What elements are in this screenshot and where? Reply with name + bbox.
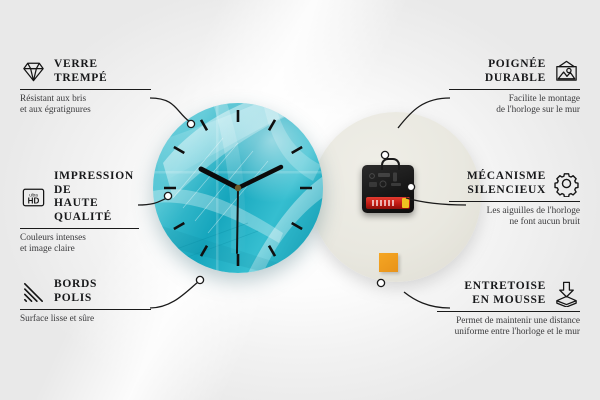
feature-title-line1: POIGNÉE <box>485 58 546 72</box>
feature-desc-line2: de l'horloge sur le mur <box>449 105 580 117</box>
connector-line-bords-polis <box>150 282 198 308</box>
feature-rule <box>20 89 151 90</box>
connector-dot-verre-trempe <box>187 120 194 127</box>
connector-dot-mecanisme <box>407 183 414 190</box>
feature-rule <box>449 201 580 202</box>
feature-desc-line2: ne font aucun bruit <box>449 217 580 229</box>
feature-mecanisme-silencieux: MÉCANISME SILENCIEUX Les aiguilles de l'… <box>449 170 580 229</box>
feature-title-line2: POLIS <box>54 292 97 306</box>
connector-dot-bords-polis <box>196 276 203 283</box>
feature-desc-line2: uniforme entre l'horloge et le mur <box>437 327 580 339</box>
feature-title-line2: SILENCIEUX <box>467 184 546 198</box>
feature-rule <box>20 309 151 310</box>
feature-verre-trempe: VERRE TREMPÉ Résistant aux bris et aux é… <box>20 58 151 117</box>
foam-spacer-icon <box>553 280 580 307</box>
feature-desc-line2: et image claire <box>20 244 139 256</box>
feature-rule <box>437 311 580 312</box>
connector-line-verre-trempe <box>150 98 190 122</box>
picture-frame-icon <box>553 58 580 85</box>
connector-dot-impression <box>164 192 171 199</box>
feature-title-line1: ENTRETOISE <box>464 280 546 294</box>
feature-impression-haute-qualite: ultra HD IMPRESSION DE HAUTE QUALITÉ Cou… <box>20 170 139 256</box>
feature-entretoise-en-mousse: ENTRETOISE EN MOUSSE Permet de maintenir… <box>437 280 580 339</box>
infographic-canvas: VERRE TREMPÉ Résistant aux bris et aux é… <box>0 0 600 400</box>
feature-rule <box>20 228 139 229</box>
feature-desc-line1: Résistant aux bris <box>20 94 151 106</box>
feature-title-line2: TREMPÉ <box>54 72 107 86</box>
feature-title-line2: HAUTE QUALITÉ <box>54 197 139 224</box>
feature-title-line1: VERRE <box>54 58 107 72</box>
ultra-hd-bottom-label: HD <box>28 196 40 205</box>
connector-dot-poignee <box>381 151 388 158</box>
feature-desc-line1: Facilite le montage <box>449 94 580 106</box>
feature-title-line1: IMPRESSION DE <box>54 170 139 197</box>
polished-edge-icon <box>20 278 47 305</box>
feature-title-line1: MÉCANISME <box>467 170 546 184</box>
connector-line-poignee <box>398 98 450 128</box>
feature-rule <box>449 89 580 90</box>
feature-desc-line2: et aux égratignures <box>20 105 151 117</box>
feature-desc-line1: Surface lisse et sûre <box>20 314 151 326</box>
feature-title-line2: DURABLE <box>485 72 546 86</box>
connector-dot-entretoise <box>377 279 384 286</box>
feature-title-line1: BORDS <box>54 278 97 292</box>
ultra-hd-icon: ultra HD <box>20 184 47 211</box>
feature-title-line2: EN MOUSSE <box>464 294 546 308</box>
feature-desc-line1: Permet de maintenir une distance <box>437 316 580 328</box>
diamond-icon <box>20 58 47 85</box>
feature-bords-polis: BORDS POLIS Surface lisse et sûre <box>20 278 151 325</box>
gear-icon <box>553 170 580 197</box>
feature-desc-line1: Les aiguilles de l'horloge <box>449 206 580 218</box>
feature-poignee-durable: POIGNÉE DURABLE Facilite le montage de l… <box>449 58 580 117</box>
feature-desc-line1: Couleurs intenses <box>20 233 139 245</box>
